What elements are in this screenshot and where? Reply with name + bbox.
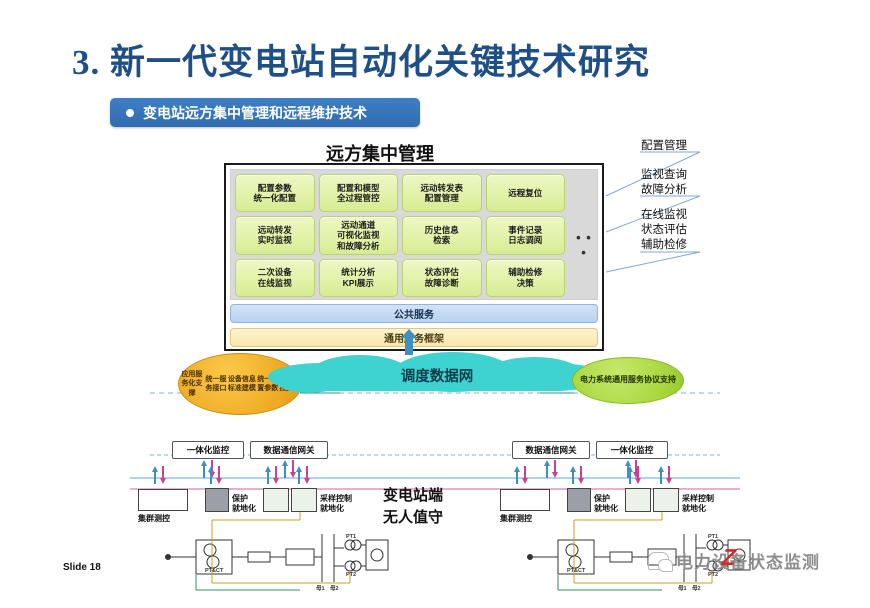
module-label: 配置参数统一化配置 (253, 183, 296, 204)
module-cell[interactable]: 统计分析KPI展示 (319, 259, 399, 297)
left-data-gateway-box[interactable]: 数据通信网关 (250, 441, 328, 459)
left-protection-label: 保护就地化 (232, 494, 256, 515)
module-label: 远动通道可视化监视和故障分析 (337, 220, 380, 252)
page-title: 3. 新一代变电站自动化关键技术研究 (72, 34, 650, 85)
subtitle-label: 变电站远方集中管理和远程维护技术 (143, 103, 367, 123)
module-label: 历史信息检索 (425, 225, 459, 246)
module-cell[interactable]: 远动转发实时监视 (235, 216, 315, 254)
module-label: 二次设备在线监视 (258, 267, 292, 288)
left-ptct-label: PT&CT (205, 568, 223, 574)
module-label: 远动转发表配置管理 (420, 183, 463, 204)
module-label: 远程复位 (508, 188, 542, 199)
slide-canvas: 3. 新一代变电站自动化关键技术研究 变电站远方集中管理和远程维护技术 远方集中… (0, 0, 870, 608)
left-cluster-bus-arrow-icon (152, 466, 166, 484)
module-label: 事件记录日志调阅 (508, 225, 542, 246)
annotation-config-management: 配置管理 (641, 139, 687, 154)
network-cloud-label: 调度数据网 (268, 364, 606, 390)
right-cluster-bus-arrow-icon (514, 466, 528, 484)
substation-center-label: 变电站端无人值守 (383, 485, 443, 529)
left-sampling-bus-arrow-icon (265, 466, 279, 484)
dispatch-data-network-cloud: 调度数据网 (268, 355, 606, 401)
left-protection-bus-arrow-icon (208, 466, 222, 484)
left-pt2-label: PT2 (346, 572, 356, 578)
right-cluster-control-label: 集群测控 (500, 513, 532, 524)
module-cell[interactable]: 状态评估故障诊断 (402, 259, 482, 297)
module-cell[interactable]: 配置和模型全过程管控 (319, 174, 399, 212)
left-sampling-device[interactable] (263, 488, 289, 512)
right-protection-device[interactable] (567, 488, 591, 512)
wechat-icon (648, 552, 669, 570)
left-sampling-label: 采样控制就地化 (320, 494, 352, 515)
module-cell[interactable]: 远动转发表配置管理 (402, 174, 482, 212)
module-cell[interactable]: 历史信息检索 (402, 216, 482, 254)
left-bus2-label: 母2 (330, 584, 339, 592)
left-cluster-control-device[interactable] (138, 489, 188, 511)
right-protection-label: 保护就地化 (594, 494, 618, 515)
left-gateway-link-arrow-icon (282, 460, 296, 478)
right-control-bus-arrow-icon (658, 466, 672, 484)
left-protection-device[interactable] (205, 488, 229, 512)
subtitle-pill: 变电站远方集中管理和远程维护技术 (110, 98, 420, 127)
module-label: 辅助检修决策 (508, 267, 542, 288)
left-cluster-control-label: 集群测控 (138, 513, 170, 524)
right-cluster-control-device[interactable] (500, 489, 550, 511)
module-cell[interactable]: 事件记录日志调阅 (486, 216, 566, 254)
module-label: 配置和模型全过程管控 (337, 183, 380, 204)
right-integrated-monitoring-box[interactable]: 一体化监控 (596, 441, 668, 459)
annotation-online-monitor: 在线监视状态评估辅助检修 (641, 208, 687, 254)
module-cell[interactable]: 配置参数统一化配置 (235, 174, 315, 212)
slide-number: Slide 18 (63, 562, 101, 573)
right-sampling-label: 采样控制就地化 (682, 494, 714, 515)
module-label: 远动转发实时监视 (258, 225, 292, 246)
right-control-device[interactable] (653, 488, 679, 512)
module-grid: 配置参数统一化配置 配置和模型全过程管控 远动转发表配置管理 远程复位 远动转发… (235, 174, 565, 297)
right-sampling-bus-arrow-icon (627, 466, 641, 484)
module-cell[interactable]: 辅助检修决策 (486, 259, 566, 297)
left-bus1-label: 母1 (316, 584, 325, 592)
annotation-monitor-query: 监视查询故障分析 (641, 168, 687, 198)
right-data-gateway-box[interactable]: 数据通信网关 (512, 441, 590, 459)
right-sampling-device[interactable] (625, 488, 651, 512)
watermark: 电力设备状态监测 Z (648, 548, 820, 573)
module-cell[interactable]: 远程复位 (486, 174, 566, 212)
watermark-label: 电力设备状态监测 (676, 548, 820, 573)
module-grid-panel: 配置参数统一化配置 配置和模型全过程管控 远动转发表配置管理 远程复位 远动转发… (230, 169, 598, 300)
more-modules-ellipsis: • • • (572, 230, 596, 260)
right-bus1-label: 母1 (678, 584, 687, 592)
module-label: 统计分析KPI展示 (341, 267, 375, 288)
module-cell[interactable]: 远动通道可视化监视和故障分析 (319, 216, 399, 254)
right-protection-bus-arrow-icon (570, 466, 584, 484)
left-pt1-label: PT1 (346, 534, 356, 540)
public-service-band: 公共服务 (230, 304, 598, 323)
left-control-device[interactable] (291, 488, 317, 512)
left-integrated-monitoring-box[interactable]: 一体化监控 (172, 441, 244, 459)
right-ptct-label: PT&CT (567, 568, 585, 574)
module-label: 状态评估故障诊断 (425, 267, 459, 288)
right-gateway-link-arrow-icon (544, 460, 558, 478)
bullet-dot-icon (126, 109, 134, 117)
right-bus2-label: 母2 (692, 584, 701, 592)
left-control-bus-arrow-icon (296, 466, 310, 484)
module-cell[interactable]: 二次设备在线监视 (235, 259, 315, 297)
right-pt1-label: PT1 (708, 534, 718, 540)
